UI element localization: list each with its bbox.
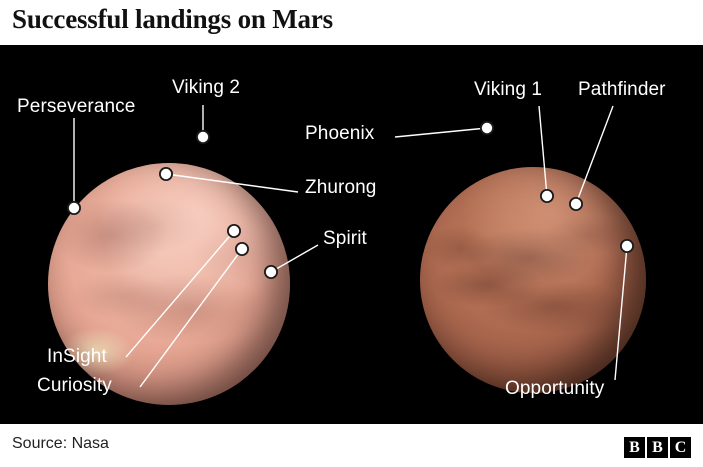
- mars-globe-right: [420, 167, 646, 393]
- bbc-logo-letter-1: B: [624, 437, 645, 458]
- landing-dot-viking-2[interactable]: [198, 132, 208, 142]
- landing-label-zhurong: Zhurong: [305, 177, 376, 199]
- mars-landings-infographic: Successful landings on Mars Perseverance…: [0, 0, 703, 467]
- landing-label-spirit: Spirit: [323, 228, 367, 250]
- source-label: Source: Nasa: [12, 435, 109, 453]
- mars-globe-left: [48, 163, 290, 405]
- landing-label-insight: InSight: [47, 346, 107, 368]
- landing-label-perseverance: Perseverance: [17, 96, 135, 118]
- illustration-stage: PerseveranceViking 2ZhurongSpiritInSight…: [0, 45, 703, 424]
- landing-label-pathfinder: Pathfinder: [578, 79, 666, 101]
- landing-label-opportunity: Opportunity: [505, 378, 604, 400]
- bbc-logo-letter-2: B: [647, 437, 668, 458]
- footer: Source: Nasa B B C: [0, 424, 703, 467]
- landing-label-viking-1: Viking 1: [474, 79, 542, 101]
- landing-dot-outline-viking-2: [196, 130, 210, 144]
- leader-line-phoenix: [395, 128, 487, 137]
- landing-dot-outline-phoenix: [480, 121, 494, 135]
- landing-label-viking-2: Viking 2: [172, 77, 240, 99]
- landing-label-curiosity: Curiosity: [37, 375, 112, 397]
- bbc-logo-letter-3: C: [670, 437, 691, 458]
- page-title: Successful landings on Mars: [12, 4, 333, 35]
- landing-label-phoenix: Phoenix: [305, 123, 374, 145]
- landing-dot-phoenix[interactable]: [482, 123, 492, 133]
- bbc-logo: B B C: [624, 437, 691, 458]
- header: Successful landings on Mars: [0, 0, 703, 45]
